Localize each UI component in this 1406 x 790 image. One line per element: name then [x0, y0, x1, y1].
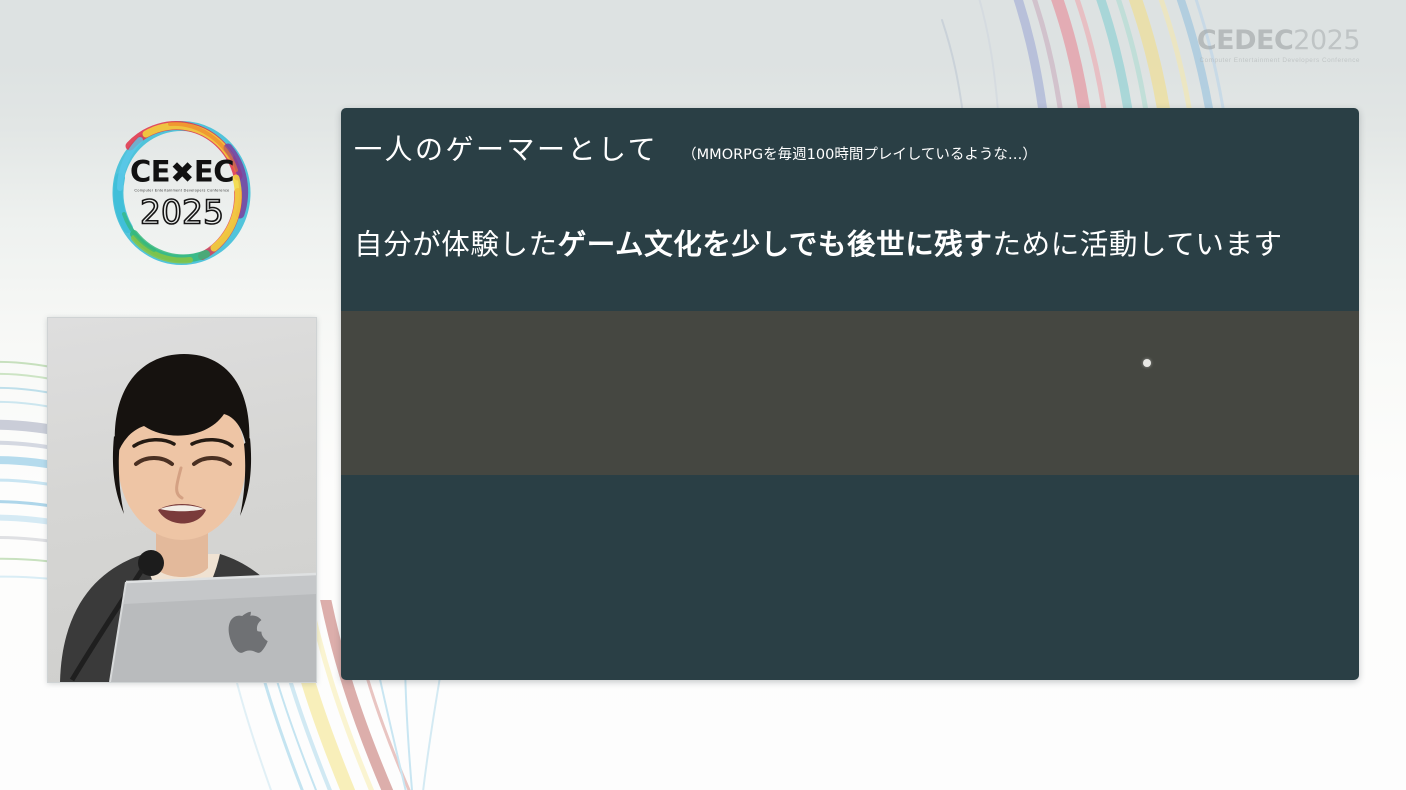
slide-line1-main: 一人のゲーマーとして [354, 128, 658, 168]
presentation-stage: CE✖EC Computer Entertainment Developers … [0, 0, 1406, 790]
cedec-logo-year: 2025 [128, 196, 236, 229]
mouse-cursor-dot [1143, 359, 1151, 367]
logo-letter-e2: E [194, 155, 213, 189]
slide-line-2: 自分が体験したゲーム文化を少しでも後世に残すために活動しています [354, 222, 1283, 263]
watermark-brand: CEDEC [1197, 25, 1293, 56]
slide-line2-part1: 自分が体験した [354, 228, 558, 261]
speaker-illustration [48, 318, 316, 682]
logo-letter-e1: E [151, 155, 170, 189]
cedec-watermark: CEDEC2025 Computer Entertainment Develop… [1197, 27, 1360, 64]
logo-letter-c1: C [130, 155, 151, 189]
slide-line1-parenthetical: （MMORPGを毎週100時間プレイしているような…） [682, 143, 1037, 164]
cedec-logo: CE✖EC Computer Entertainment Developers … [110, 118, 254, 268]
slide-line-1: 一人のゲーマーとして （MMORPGを毎週100時間プレイしているような…） [354, 128, 1037, 168]
speaker-video-feed [47, 317, 317, 683]
watermark-year: 2025 [1293, 25, 1360, 56]
presentation-slide: 一人のゲーマーとして （MMORPGを毎週100時間プレイしているような…） 自… [341, 108, 1359, 680]
logo-x-icon: ✖ [170, 159, 194, 188]
cedec-logo-tagline: Computer Entertainment Developers Confer… [127, 188, 237, 192]
watermark-tagline: Computer Entertainment Developers Confer… [1197, 57, 1360, 64]
watermark-wordmark: CEDEC2025 [1197, 27, 1360, 54]
cedec-logo-wordmark: CE✖EC [128, 158, 236, 187]
slide-line2-part3: ために活動しています [993, 228, 1283, 261]
logo-letter-c2: C [213, 155, 234, 189]
slide-text-band [341, 311, 1359, 475]
slide-line2-emphasis: ゲーム文化を少しでも後世に残す [558, 228, 993, 261]
